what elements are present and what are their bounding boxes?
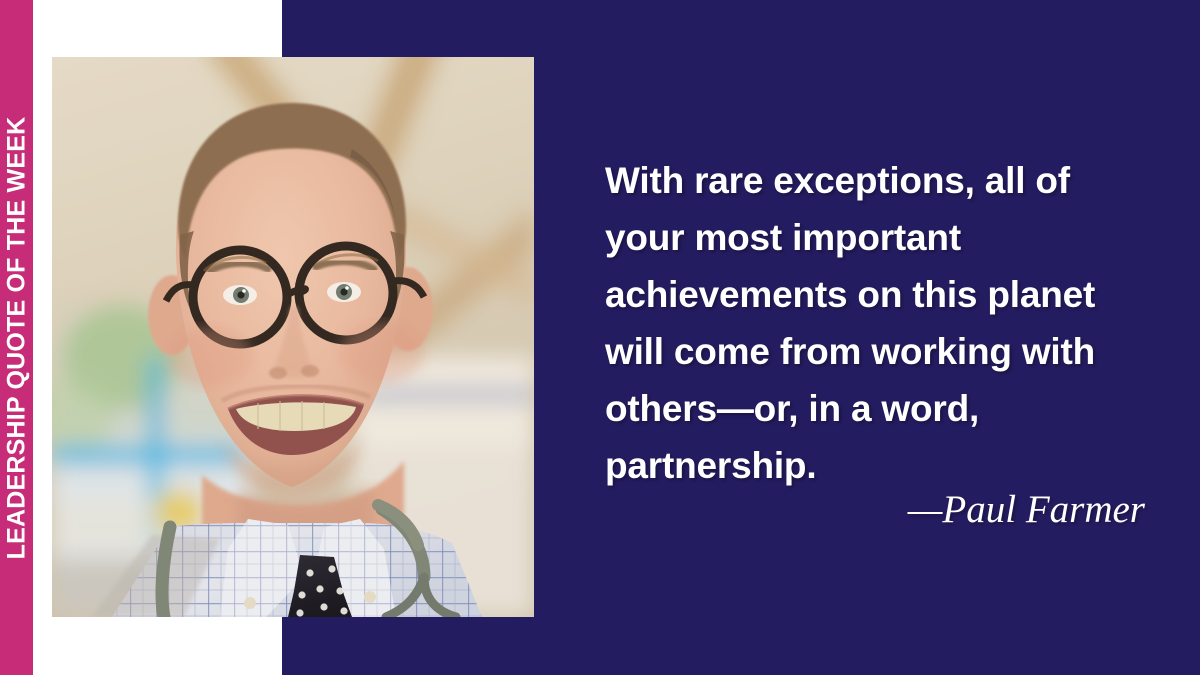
quote-attribution: —Paul Farmer [605, 487, 1145, 533]
quote-text-block: With rare exceptions, all of your most i… [605, 152, 1150, 494]
quote-card-canvas: LEADERSHIP QUOTE OF THE WEEK With rare e… [0, 0, 1200, 675]
quote-line: partnership. [605, 437, 1150, 494]
quote-line: others—or, in a word, [605, 380, 1150, 437]
ribbon-label: LEADERSHIP QUOTE OF THE WEEK [4, 116, 29, 559]
quote-line: achievements on this planet [605, 266, 1150, 323]
quote-line: your most important [605, 209, 1150, 266]
leadership-quote-ribbon: LEADERSHIP QUOTE OF THE WEEK [0, 0, 33, 675]
quote-line: With rare exceptions, all of [605, 152, 1150, 209]
portrait-photo [52, 57, 534, 617]
quote-line: will come from working with [605, 323, 1150, 380]
portrait-photo-illustration [52, 57, 534, 617]
